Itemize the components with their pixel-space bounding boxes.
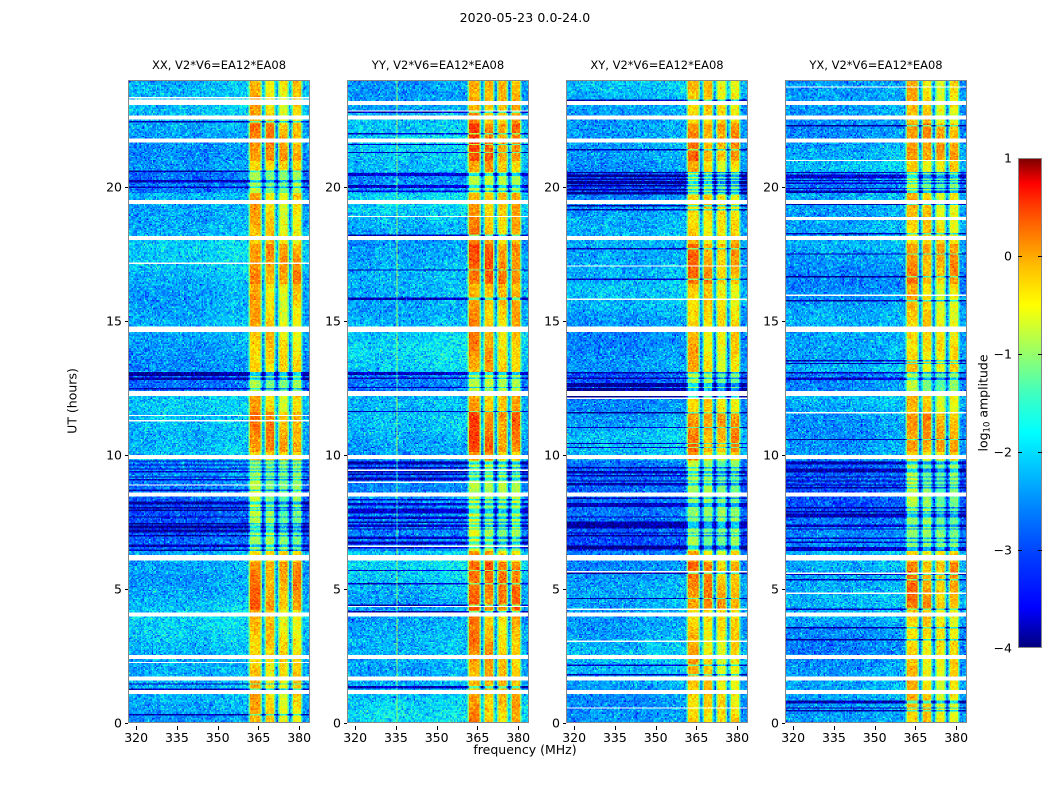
- colorbar-gradient: [1018, 158, 1042, 648]
- colorbar-tick-mark: [1038, 452, 1042, 453]
- waterfall-panel-xy[interactable]: [566, 80, 748, 723]
- y-tick-mark: [782, 589, 786, 590]
- colorbar-tick-label: −1: [994, 347, 1012, 362]
- colorbar-tick-mark: [1038, 256, 1042, 257]
- x-tick-mark: [793, 726, 794, 730]
- y-tick-mark: [344, 321, 348, 322]
- y-tick-label: 10: [763, 448, 779, 463]
- y-tick-label: 5: [333, 582, 341, 597]
- y-tick-mark: [563, 589, 567, 590]
- colorbar-tick-label: −2: [994, 445, 1012, 460]
- panel-title-xy: XY, V2*V6=EA12*EA08: [566, 58, 748, 72]
- y-tick-mark: [563, 187, 567, 188]
- y-tick-label: 15: [763, 314, 779, 329]
- x-tick-mark: [518, 726, 519, 730]
- y-tick-mark: [344, 723, 348, 724]
- y-tick-mark: [125, 589, 129, 590]
- y-tick-label: 5: [114, 582, 122, 597]
- y-tick-label: 0: [114, 716, 122, 731]
- y-tick-mark: [125, 455, 129, 456]
- figure-suptitle: 2020-05-23 0.0-24.0: [0, 10, 1050, 25]
- x-tick-mark: [299, 726, 300, 730]
- spectrogram-image-xx: [129, 81, 309, 722]
- spectrogram-image-xy: [567, 81, 747, 722]
- y-tick-mark: [782, 723, 786, 724]
- y-tick-label: 0: [771, 716, 779, 731]
- y-tick-label: 10: [544, 448, 560, 463]
- y-tick-mark: [344, 589, 348, 590]
- y-axis-ticks-yx: 05101520: [751, 80, 785, 723]
- spectrogram-image-yx: [786, 81, 966, 722]
- colorbar-tick-label: 0: [1004, 249, 1012, 264]
- x-tick-mark: [218, 726, 219, 730]
- colorbar-tick-mark: [1018, 354, 1022, 355]
- y-tick-mark: [125, 187, 129, 188]
- colorbar-label-subscript: 10: [983, 422, 993, 433]
- y-axis-ticks-xy: 05101520: [532, 80, 566, 723]
- y-tick-mark: [344, 455, 348, 456]
- y-tick-label: 20: [544, 180, 560, 195]
- x-tick-mark: [574, 726, 575, 730]
- panel-title-yy: YY, V2*V6=EA12*EA08: [347, 58, 529, 72]
- x-tick-mark: [656, 726, 657, 730]
- y-tick-mark: [563, 321, 567, 322]
- y-tick-mark: [125, 321, 129, 322]
- x-tick-mark: [915, 726, 916, 730]
- x-tick-mark: [737, 726, 738, 730]
- colorbar-label-tail: amplitude: [976, 354, 991, 421]
- y-tick-label: 10: [106, 448, 122, 463]
- colorbar[interactable]: 10−1−2−3−4: [1018, 158, 1042, 648]
- y-axis-ticks-xx: 05101520: [94, 80, 128, 723]
- colorbar-tick-mark: [1018, 550, 1022, 551]
- x-tick-mark: [177, 726, 178, 730]
- x-tick-mark: [615, 726, 616, 730]
- y-tick-label: 15: [325, 314, 341, 329]
- y-tick-mark: [782, 187, 786, 188]
- y-tick-mark: [782, 321, 786, 322]
- waterfall-panel-yy[interactable]: [347, 80, 529, 723]
- colorbar-tick-label: −3: [994, 543, 1012, 558]
- colorbar-tick-label: −4: [994, 641, 1012, 656]
- y-tick-label: 0: [552, 716, 560, 731]
- x-tick-mark: [956, 726, 957, 730]
- y-tick-mark: [782, 455, 786, 456]
- y-tick-label: 0: [333, 716, 341, 731]
- x-tick-mark: [355, 726, 356, 730]
- y-tick-label: 15: [544, 314, 560, 329]
- y-tick-label: 10: [325, 448, 341, 463]
- y-tick-label: 20: [325, 180, 341, 195]
- x-tick-mark: [834, 726, 835, 730]
- y-tick-label: 15: [106, 314, 122, 329]
- colorbar-label: log10 amplitude: [976, 354, 991, 451]
- y-tick-mark: [563, 723, 567, 724]
- colorbar-tick-mark: [1038, 550, 1042, 551]
- waterfall-panel-xx[interactable]: [128, 80, 310, 723]
- panel-title-yx: YX, V2*V6=EA12*EA08: [785, 58, 967, 72]
- y-axis-label: UT (hours): [65, 368, 80, 434]
- x-tick-mark: [875, 726, 876, 730]
- y-tick-mark: [344, 187, 348, 188]
- x-tick-mark: [696, 726, 697, 730]
- y-tick-mark: [125, 723, 129, 724]
- x-axis-label: frequency (MHz): [0, 742, 1050, 757]
- y-tick-label: 20: [106, 180, 122, 195]
- figure-canvas: 2020-05-23 0.0-24.0 XX, V2*V6=EA12*EA08 …: [0, 0, 1050, 800]
- x-tick-mark: [258, 726, 259, 730]
- y-tick-label: 5: [552, 582, 560, 597]
- spectrogram-image-yy: [348, 81, 528, 722]
- x-tick-mark: [437, 726, 438, 730]
- x-tick-mark: [136, 726, 137, 730]
- colorbar-tick-mark: [1018, 452, 1022, 453]
- y-axis-ticks-yy: 05101520: [313, 80, 347, 723]
- panel-title-xx: XX, V2*V6=EA12*EA08: [128, 58, 310, 72]
- y-tick-mark: [563, 455, 567, 456]
- x-tick-mark: [396, 726, 397, 730]
- colorbar-tick-label: 1: [1004, 151, 1012, 166]
- y-tick-label: 20: [763, 180, 779, 195]
- colorbar-tick-mark: [1018, 256, 1022, 257]
- colorbar-tick-mark: [1038, 354, 1042, 355]
- y-tick-label: 5: [771, 582, 779, 597]
- x-tick-mark: [477, 726, 478, 730]
- colorbar-label-text: log: [976, 432, 991, 451]
- waterfall-panel-yx[interactable]: [785, 80, 967, 723]
